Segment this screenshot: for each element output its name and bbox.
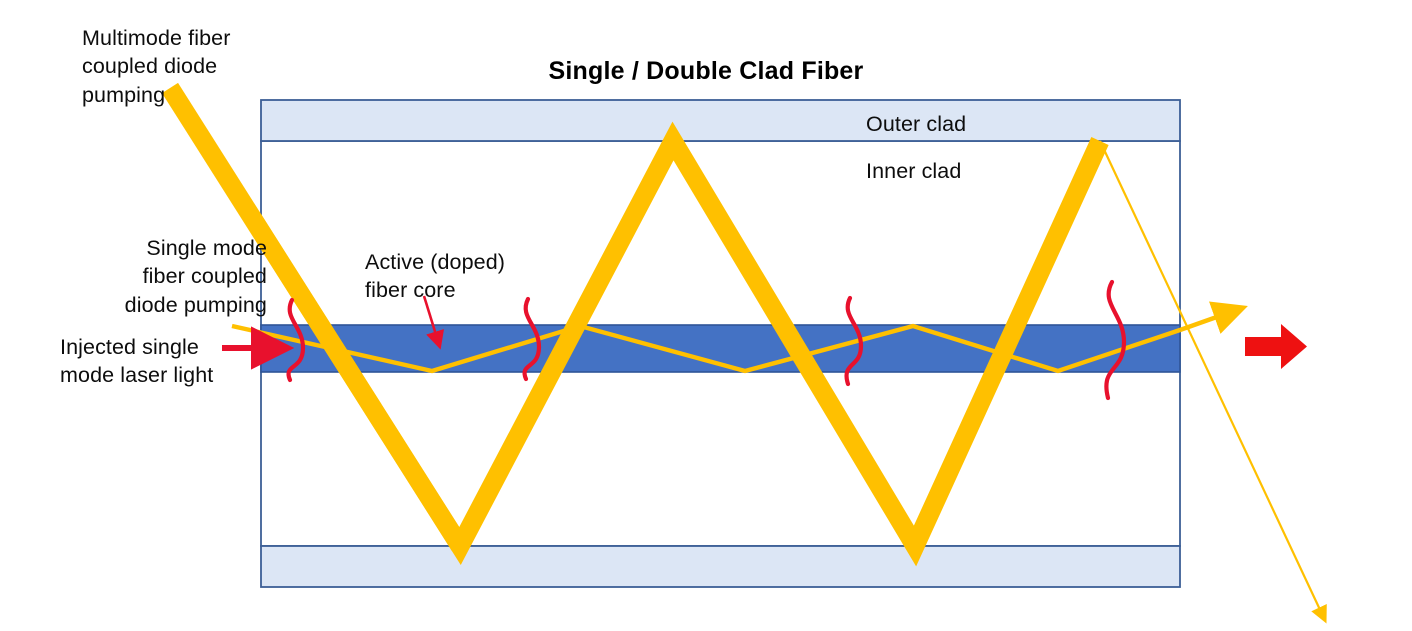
label-outer-clad: Outer clad xyxy=(866,110,1066,138)
laser-output-arrow xyxy=(1245,324,1307,369)
label-singlemode-pump: Single mode fiber coupled diode pumping xyxy=(62,234,267,319)
label-injected-laser-light: Injected single mode laser light xyxy=(60,333,220,390)
fiber-diagram-figure: Single / Double Clad Fiber xyxy=(0,0,1412,631)
signal-output-ray xyxy=(1180,313,1228,330)
label-active-doped-core: Active (doped) fiber core xyxy=(365,248,545,305)
outer-clad-bottom-band xyxy=(261,546,1180,587)
label-multimode-pump: Multimode fiber coupled diode pumping xyxy=(82,24,282,109)
label-inner-clad: Inner clad xyxy=(866,157,1066,185)
